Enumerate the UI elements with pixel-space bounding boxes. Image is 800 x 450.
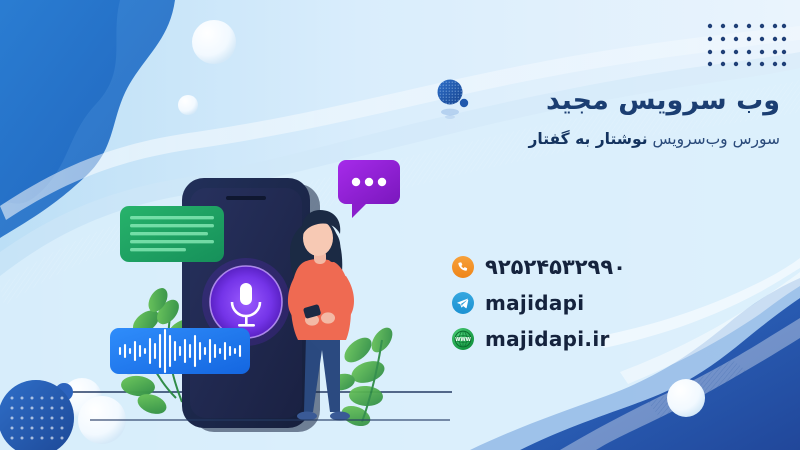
page-title: وب سرویس مجید [430, 84, 780, 118]
contact-row-telegram[interactable]: majidapi [452, 288, 772, 318]
subtitle-emphasis: نوشتار به گفتار [528, 130, 647, 148]
text-to-speech-illustration [90, 150, 450, 440]
telegram-handle: majidapi [485, 293, 584, 313]
purple-typing-bubble [338, 160, 400, 218]
subtitle-plain: سورس وب‌سرویس [648, 130, 780, 148]
blue-waveform-bubble [110, 328, 250, 374]
page-subtitle: سورس وب‌سرویس نوشتار به گفتار [430, 128, 780, 151]
contact-row-phone[interactable]: ۰۹۹۲۳۵۴۲۵۲۹ [452, 252, 772, 282]
phone-icon [452, 256, 474, 278]
website-url: majidapi.ir [485, 329, 610, 349]
telegram-icon [452, 292, 474, 314]
phone-number: ۰۹۹۲۳۵۴۲۵۲۹ [485, 257, 626, 278]
green-text-bubble [120, 206, 224, 262]
dotted-sphere-logo-icon [436, 78, 470, 124]
decorative-dot-grid [706, 22, 788, 72]
globe-www-icon: WWW [452, 328, 474, 350]
svg-text:WWW: WWW [455, 337, 472, 343]
brand-text-block: وب سرویس مجید سورس وب‌سرویس نوشتار به گف… [430, 84, 780, 374]
contact-list: ۰۹۹۲۳۵۴۲۵۲۹ majidapi [452, 252, 772, 360]
promo-banner: وب سرویس مجید سورس وب‌سرویس نوشتار به گف… [0, 0, 800, 450]
contact-row-website[interactable]: WWW majidapi.ir [452, 324, 772, 354]
